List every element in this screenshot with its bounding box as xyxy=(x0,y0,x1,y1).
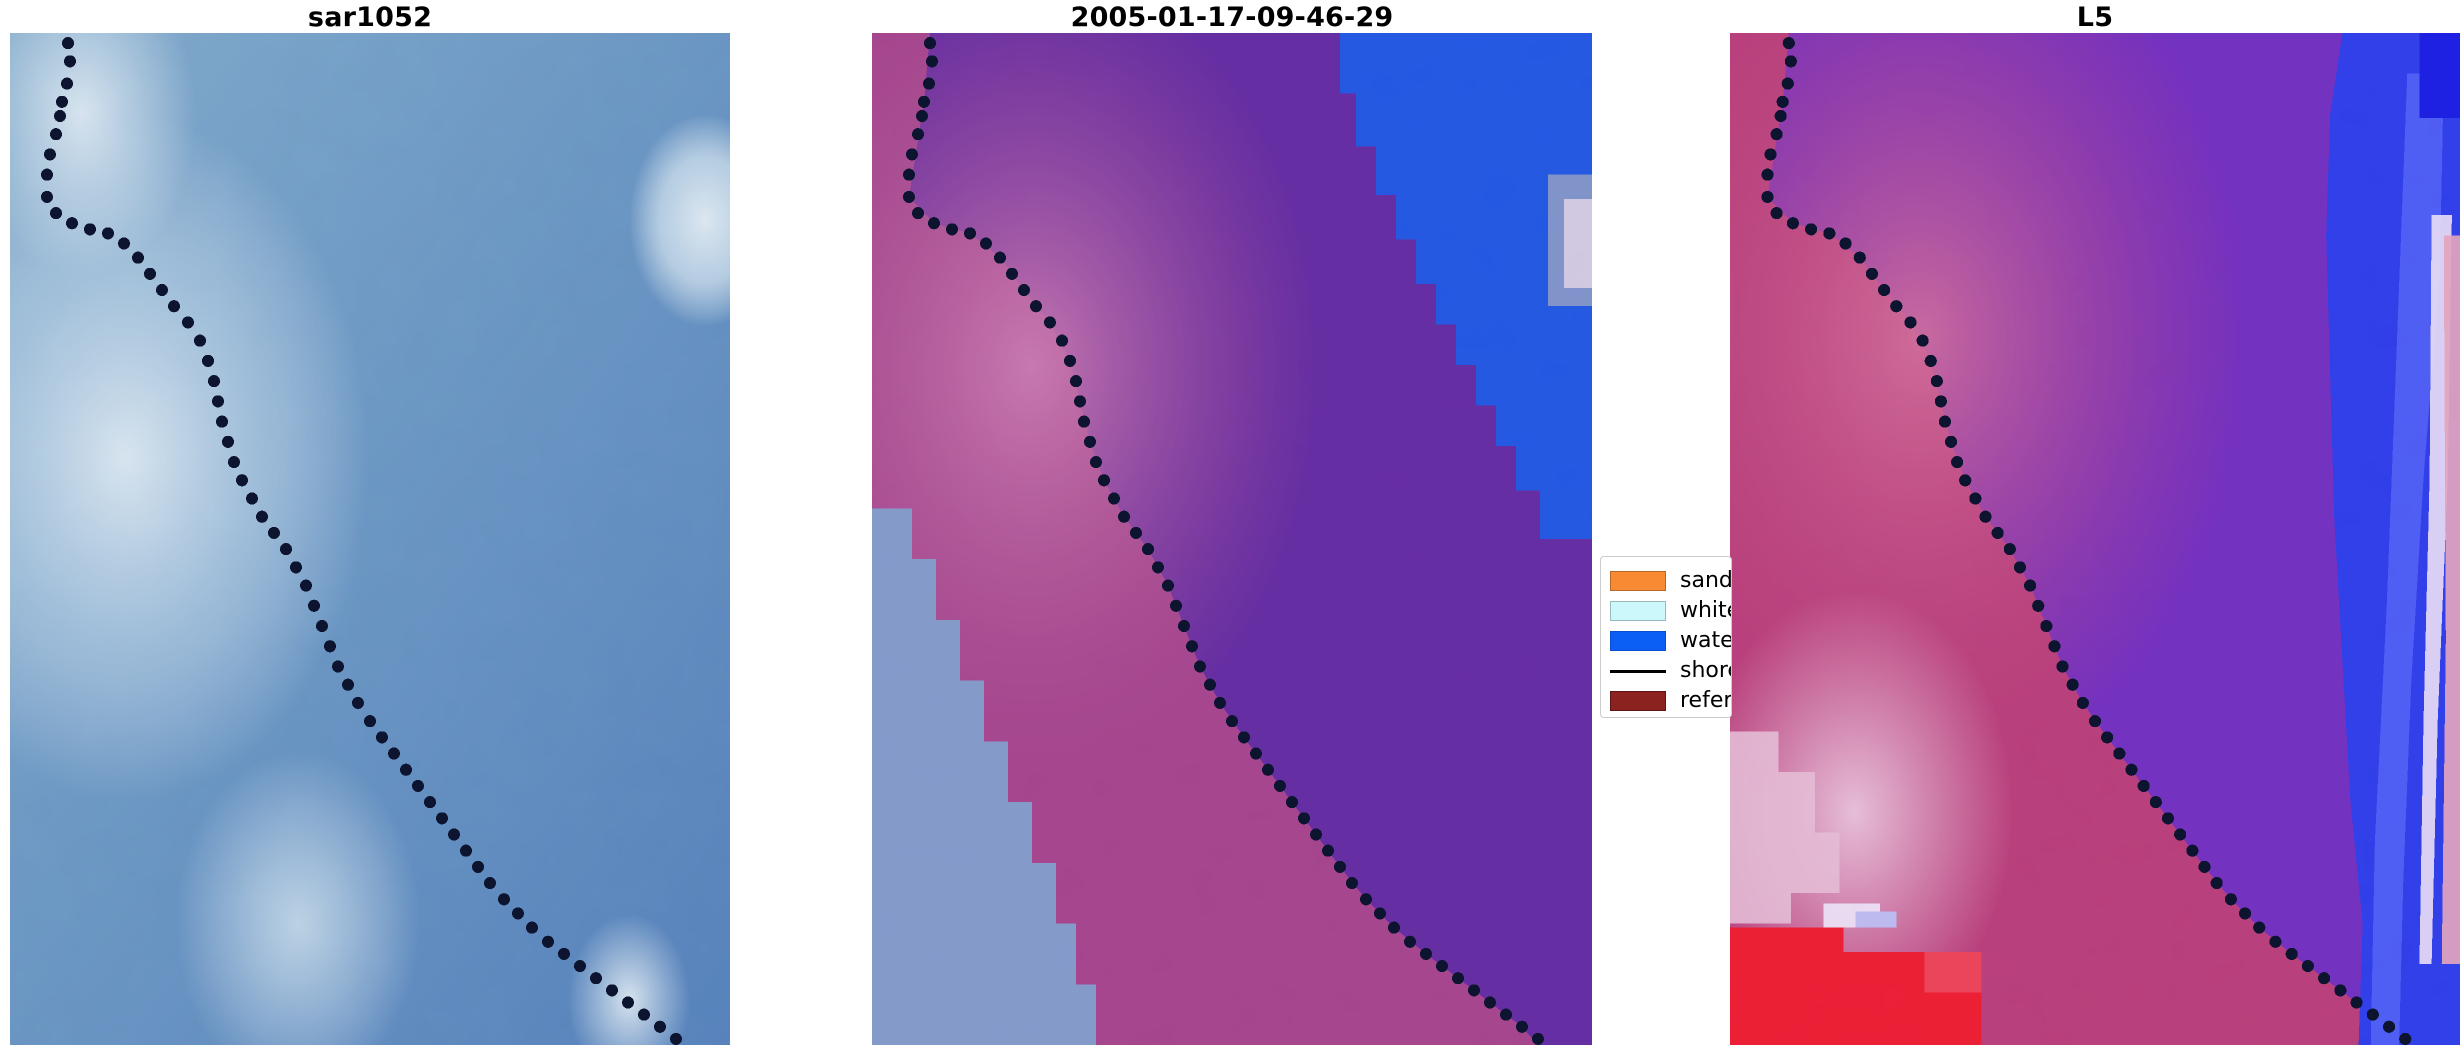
legend-label-reference-shoreline: referen xyxy=(1680,690,1732,712)
sar-raster-image xyxy=(10,33,730,1045)
whitewater-swatch-icon xyxy=(1610,601,1666,621)
legend-label-whitewater: whitew xyxy=(1680,600,1732,622)
legend-label-shoreline: shoreli xyxy=(1680,660,1732,682)
water-swatch-icon xyxy=(1610,631,1666,651)
panel-title-classified: 2005-01-17-09-46-29 xyxy=(872,2,1592,33)
legend-label-water: water xyxy=(1680,630,1732,652)
reference-shoreline-swatch-icon xyxy=(1610,691,1666,711)
legend-item-whitewater: whitew xyxy=(1610,596,1721,626)
legend-item-water: water xyxy=(1610,626,1721,656)
panel-title-sar: sar1052 xyxy=(10,2,730,33)
legend-item-reference-shoreline: referen xyxy=(1610,686,1721,716)
legend-item-sand: sand xyxy=(1610,566,1721,596)
sand-swatch-icon xyxy=(1610,571,1666,591)
legend: sand whitew water shoreli referen xyxy=(1600,556,1732,718)
panel-l5[interactable] xyxy=(1730,33,2460,1045)
shoreline-line-icon xyxy=(1610,661,1666,681)
legend-item-shoreline: shoreli xyxy=(1610,656,1721,686)
legend-label-sand: sand xyxy=(1680,570,1732,592)
figure-canvas: sar1052 xyxy=(0,0,2460,1062)
l5-raster-image xyxy=(1730,33,2460,1045)
panel-classified[interactable] xyxy=(872,33,1592,1045)
classified-raster-image xyxy=(872,33,1592,1045)
panel-title-l5: L5 xyxy=(1730,2,2460,33)
panel-sar[interactable] xyxy=(10,33,730,1045)
